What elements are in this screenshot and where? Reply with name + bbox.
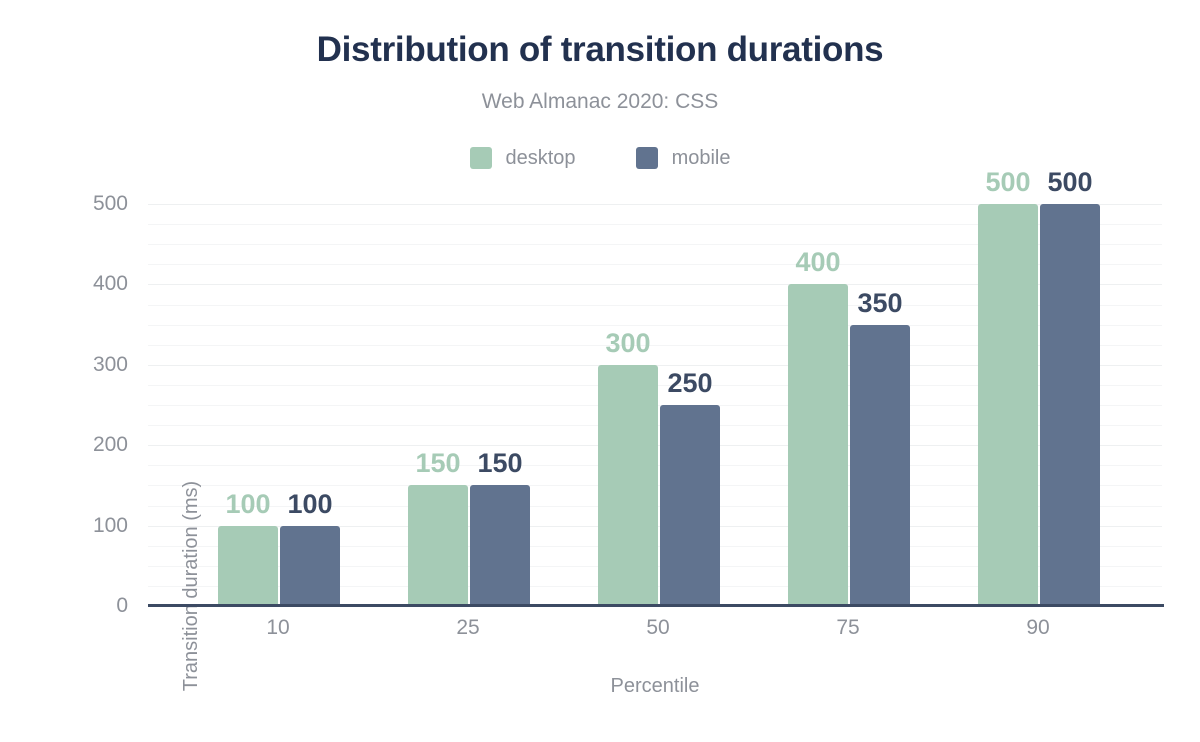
x-axis-baseline: [148, 604, 1164, 607]
bar-mobile[interactable]: [850, 325, 910, 606]
bar-value-label-mobile: 250: [660, 367, 720, 399]
y-axis-tick-label: 500: [8, 192, 128, 216]
bar-mobile[interactable]: [470, 485, 530, 606]
bar-group: 500500: [978, 204, 1100, 606]
x-axis-tick-label: 25: [407, 616, 529, 640]
legend-swatch-mobile: [636, 147, 658, 169]
bar-mobile[interactable]: [280, 526, 340, 606]
x-axis-tick-label: 50: [597, 616, 719, 640]
y-axis-tick-label: 0: [8, 594, 128, 618]
x-axis-tick-label: 10: [217, 616, 339, 640]
bar-value-label-desktop: 100: [218, 488, 278, 520]
legend-item-mobile[interactable]: mobile: [636, 147, 731, 169]
x-axis-title: Percentile: [148, 674, 1162, 698]
bars-layer: 100100150150300250400350500500: [148, 204, 1162, 606]
bar-mobile[interactable]: [660, 405, 720, 606]
bar-group: 150150: [408, 204, 530, 606]
x-axis-tick-label: 90: [977, 616, 1099, 640]
bar-value-label-desktop: 150: [408, 447, 468, 479]
legend-label-desktop: desktop: [506, 147, 576, 169]
bar-desktop[interactable]: [408, 485, 468, 606]
bar-value-label-desktop: 300: [598, 327, 658, 359]
legend-item-desktop[interactable]: desktop: [470, 147, 576, 169]
bar-group: 300250: [598, 204, 720, 606]
bar-value-label-mobile: 150: [470, 447, 530, 479]
bar-value-label-mobile: 100: [280, 488, 340, 520]
bar-desktop[interactable]: [978, 204, 1038, 606]
x-axis-tick-label: 75: [787, 616, 909, 640]
chart-subtitle: Web Almanac 2020: CSS: [0, 88, 1200, 116]
legend-swatch-desktop: [470, 147, 492, 169]
bar-desktop[interactable]: [218, 526, 278, 606]
chart-container: Distribution of transition durations Web…: [0, 0, 1200, 742]
chart-title: Distribution of transition durations: [0, 28, 1200, 72]
bar-value-label-mobile: 350: [850, 287, 910, 319]
y-axis-tick-label: 200: [8, 433, 128, 457]
legend-label-mobile: mobile: [672, 147, 731, 169]
bar-desktop[interactable]: [788, 284, 848, 606]
y-axis-tick-label: 300: [8, 353, 128, 377]
y-axis-tick-label: 100: [8, 514, 128, 538]
y-axis-title: Transition duration (ms): [179, 476, 203, 696]
bar-value-label-desktop: 500: [978, 166, 1038, 198]
bar-desktop[interactable]: [598, 365, 658, 606]
bar-group: 400350: [788, 204, 910, 606]
bar-group: 100100: [218, 204, 340, 606]
plot-area: 0100200300400500 10010015015030025040035…: [148, 204, 1162, 606]
y-axis-tick-label: 400: [8, 272, 128, 296]
bar-value-label-desktop: 400: [788, 246, 848, 278]
bar-mobile[interactable]: [1040, 204, 1100, 606]
bar-value-label-mobile: 500: [1040, 166, 1100, 198]
